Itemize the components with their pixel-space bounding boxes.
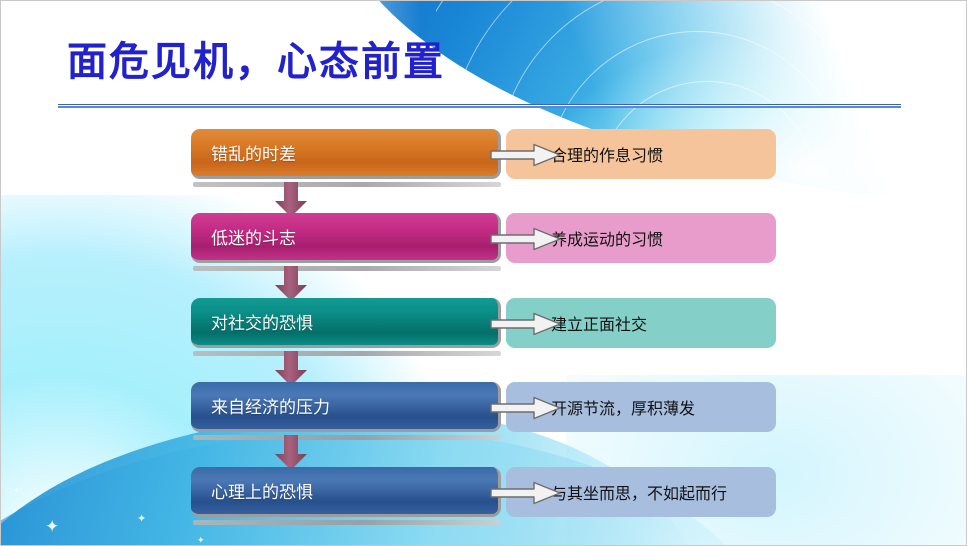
- problem-box-1[interactable]: 错乱的时差: [191, 129, 501, 179]
- solution-label: 建立正面社交: [551, 311, 647, 335]
- box-shadow-bar: [193, 520, 501, 525]
- flow-row: 来自经济的压力 开源节流，厚积薄发: [1, 382, 967, 438]
- problem-box-3[interactable]: 对社交的恐惧: [191, 298, 501, 348]
- down-arrow-icon: [273, 435, 309, 471]
- down-arrow-icon: [273, 266, 309, 302]
- solution-label: 与其坐而思，不如起而行: [551, 480, 727, 504]
- problem-label: 错乱的时差: [211, 140, 296, 165]
- box-shadow-bar: [193, 182, 501, 187]
- right-arrow-icon: [490, 396, 562, 420]
- problem-label: 来自经济的压力: [211, 393, 330, 418]
- problem-label: 低迷的斗志: [211, 224, 296, 249]
- problem-box-2[interactable]: 低迷的斗志: [191, 213, 501, 263]
- flow-row: 心理上的恐惧 与其坐而思，不如起而行: [1, 467, 967, 523]
- right-arrow-icon: [490, 227, 562, 251]
- box-shadow-bar: [193, 266, 501, 271]
- problem-box-4[interactable]: 来自经济的压力: [191, 382, 501, 432]
- right-arrow-icon: [490, 481, 562, 505]
- flow-row: 低迷的斗志 养成运动的习惯: [1, 213, 967, 269]
- right-arrow-icon: [490, 312, 562, 336]
- problem-label: 心理上的恐惧: [211, 478, 313, 503]
- problem-box-5[interactable]: 心理上的恐惧: [191, 467, 501, 517]
- box-shadow-bar: [193, 351, 501, 356]
- solution-label: 养成运动的习惯: [551, 226, 663, 250]
- solution-label: 开源节流，厚积薄发: [551, 395, 695, 419]
- solution-label: 合理的作息习惯: [551, 142, 663, 166]
- flow-row: 错乱的时差 合理的作息习惯: [1, 129, 967, 185]
- box-shadow-bar: [193, 435, 501, 440]
- problem-label: 对社交的恐惧: [211, 309, 313, 334]
- slide-canvas: ✦ ✦ ✦ ✦ 面危见机，心态前置 错乱的时差 合理的作息习惯: [0, 0, 967, 546]
- right-arrow-icon: [490, 143, 562, 167]
- flow-row: 对社交的恐惧 建立正面社交: [1, 298, 967, 354]
- process-flow-diagram: 错乱的时差 合理的作息习惯 低迷的斗志 养成运动的习惯: [1, 1, 967, 546]
